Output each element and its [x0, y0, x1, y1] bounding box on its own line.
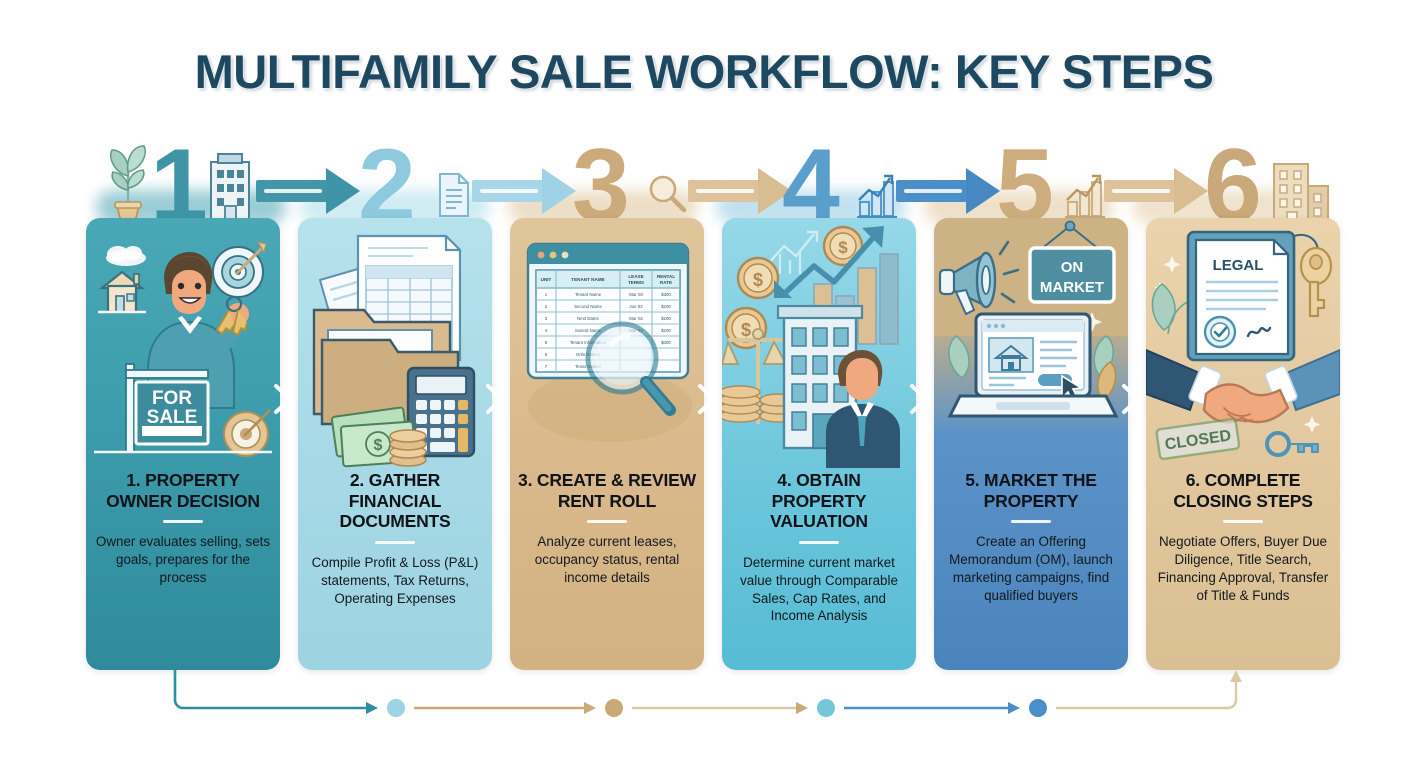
step-5-text: 5. MARKET THE PROPERTY Create an Offerin… — [942, 470, 1120, 605]
step-4-text: 4. OBTAIN PROPERTY VALUATION Determine c… — [730, 470, 908, 625]
key-icon — [1294, 235, 1331, 316]
svg-text:TENANT NAME: TENANT NAME — [571, 277, 604, 282]
house-icon — [98, 272, 146, 312]
svg-text:$: $ — [838, 238, 848, 257]
closed-stamp: CLOSED — [1156, 419, 1239, 460]
svg-text:RATE: RATE — [660, 280, 672, 285]
flow-arrow-1 — [256, 168, 360, 214]
step-2-text: 2. GATHER FINANCIAL DOCUMENTS Compile Pr… — [306, 470, 484, 607]
building-icon — [205, 148, 255, 226]
svg-text:TERMS: TERMS — [628, 280, 644, 285]
svg-text:$200: $200 — [661, 304, 671, 309]
svg-text:$200: $200 — [661, 328, 671, 333]
flow-arrow-5 — [1104, 168, 1208, 214]
step-1-body: Owner evaluates selling, sets goals, pre… — [94, 533, 272, 586]
svg-text:UNIT: UNIT — [541, 277, 552, 282]
step-card-4[interactable]: $ $ $ — [722, 218, 916, 670]
connector-dot-3 — [817, 699, 835, 717]
svg-text:$300: $300 — [661, 292, 671, 297]
connector-arrowhead-4 — [1008, 702, 1020, 714]
step-3-text: 3. CREATE & REVIEW RENT ROLL Analyze cur… — [518, 470, 696, 587]
bar-chart-up-icon — [1062, 172, 1108, 220]
divider — [587, 520, 627, 523]
card-chevron-5 — [1120, 378, 1146, 420]
card-chevron-3 — [696, 378, 722, 420]
connector-dot-2 — [605, 699, 623, 717]
flow-arrow-4 — [896, 168, 1000, 214]
step-card-2[interactable]: $ 2. GATHER FINANCIAL DOCUMENTS Compile … — [298, 218, 492, 670]
document-icon — [437, 172, 471, 218]
magnifier-icon — [645, 172, 689, 216]
svg-text:$: $ — [741, 320, 751, 340]
divider — [163, 520, 203, 523]
divider — [1011, 520, 1051, 523]
workflow-connector — [0, 668, 1408, 738]
legal-doc-label: LEGAL — [1213, 257, 1264, 274]
svg-text:Second Name: Second Name — [574, 304, 602, 309]
svg-text:LEASE: LEASE — [628, 274, 643, 279]
target-icon — [224, 410, 270, 456]
for-sale-line-2: SALE — [147, 407, 198, 428]
flow-arrow-2 — [472, 168, 576, 214]
step-number-band: 1 2 — [0, 130, 1408, 230]
connector-arrowhead-3 — [796, 702, 808, 714]
divider — [799, 541, 839, 544]
legal-document: LEGAL — [1188, 232, 1294, 360]
step-4-title: 4. OBTAIN PROPERTY VALUATION — [730, 470, 908, 532]
step-3-illustration: UNITTENANT NAME LEASETERMS RENTALRATE 1T… — [510, 218, 704, 468]
step-6-text: 6. COMPLETE CLOSING STEPS Negotiate Offe… — [1154, 470, 1332, 605]
step-1-illustration: FOR SALE — [86, 218, 280, 468]
card-chevron-2 — [484, 378, 510, 420]
page-title: MULTIFAMILY SALE WORKFLOW: KEY STEPS — [0, 44, 1408, 99]
card-chevron-1 — [272, 378, 298, 420]
step-2-body: Compile Profit & Loss (P&L) statements, … — [306, 554, 484, 607]
svg-text:RENTAL: RENTAL — [657, 274, 675, 279]
step-1-text: 1. PROPERTY OWNER DECISION Owner evaluat… — [94, 470, 272, 587]
on-market-line-2: MARKET — [1040, 279, 1104, 296]
step-5-title: 5. MARKET THE PROPERTY — [942, 470, 1120, 511]
divider — [1223, 520, 1263, 523]
divider — [375, 541, 415, 544]
connector-arrowhead-1 — [366, 702, 378, 714]
step-4-illustration: $ $ $ — [722, 218, 916, 468]
connector-segment-5 — [1056, 678, 1236, 708]
card-chevron-4 — [908, 378, 934, 420]
svg-text:Mar 03: Mar 03 — [629, 292, 643, 297]
svg-text:$: $ — [374, 437, 383, 454]
target-icon — [213, 242, 266, 297]
step-6-title: 6. COMPLETE CLOSING STEPS — [1154, 470, 1332, 511]
step-5-body: Create an Offering Memorandum (OM), laun… — [942, 533, 1120, 604]
step-1-title: 1. PROPERTY OWNER DECISION — [94, 470, 272, 511]
seal-icon — [1205, 317, 1235, 347]
connector-dot-4 — [1029, 699, 1047, 717]
infographic-canvas: MULTIFAMILY SALE WORKFLOW: KEY STEPS 1 — [0, 0, 1408, 768]
svg-text:$: $ — [753, 270, 763, 290]
svg-text:Mar 02: Mar 02 — [629, 316, 643, 321]
coins-icon — [390, 430, 426, 466]
for-sale-line-1: FOR — [152, 388, 192, 409]
laptop-icon — [950, 314, 1116, 416]
step-card-3[interactable]: UNITTENANT NAME LEASETERMS RENTALRATE 1T… — [510, 218, 704, 670]
plant-icon — [100, 142, 156, 224]
step-2-title: 2. GATHER FINANCIAL DOCUMENTS — [306, 470, 484, 532]
leaf-icon — [1152, 284, 1192, 334]
bar-chart-up-icon — [854, 172, 900, 220]
step-3-title: 3. CREATE & REVIEW RENT ROLL — [518, 470, 696, 511]
flow-arrow-3 — [688, 168, 792, 214]
step-6-body: Negotiate Offers, Buyer Due Diligence, T… — [1154, 533, 1332, 604]
step-card-5[interactable]: ON MARKET — [934, 218, 1128, 670]
step-card-6[interactable]: LEGAL — [1146, 218, 1340, 670]
step-3-body: Analyze current leases, occupancy status… — [518, 533, 696, 586]
connector-dot-1 — [387, 699, 405, 717]
step-4-body: Determine current market value through C… — [730, 554, 908, 625]
key-icon — [1267, 433, 1318, 455]
svg-text:Next Dates: Next Dates — [577, 316, 600, 321]
svg-text:$200: $200 — [661, 316, 671, 321]
connector-arrowhead-2 — [584, 702, 596, 714]
cloud-icon — [106, 246, 146, 266]
step-5-illustration: ON MARKET — [934, 218, 1128, 468]
svg-text:Jun 03: Jun 03 — [629, 304, 643, 309]
svg-text:$000: $000 — [661, 340, 671, 345]
connector-arrowhead-5 — [1230, 670, 1242, 682]
step-6-illustration: LEGAL — [1146, 218, 1340, 468]
svg-text:Tenant Name: Tenant Name — [575, 292, 602, 297]
step-card-1[interactable]: FOR SALE 1. PROPERTY OWNER DECISION Owne… — [86, 218, 280, 670]
connector-segment-1 — [175, 670, 370, 708]
step-2-illustration: $ — [298, 218, 492, 468]
on-market-line-1: ON — [1061, 259, 1084, 276]
